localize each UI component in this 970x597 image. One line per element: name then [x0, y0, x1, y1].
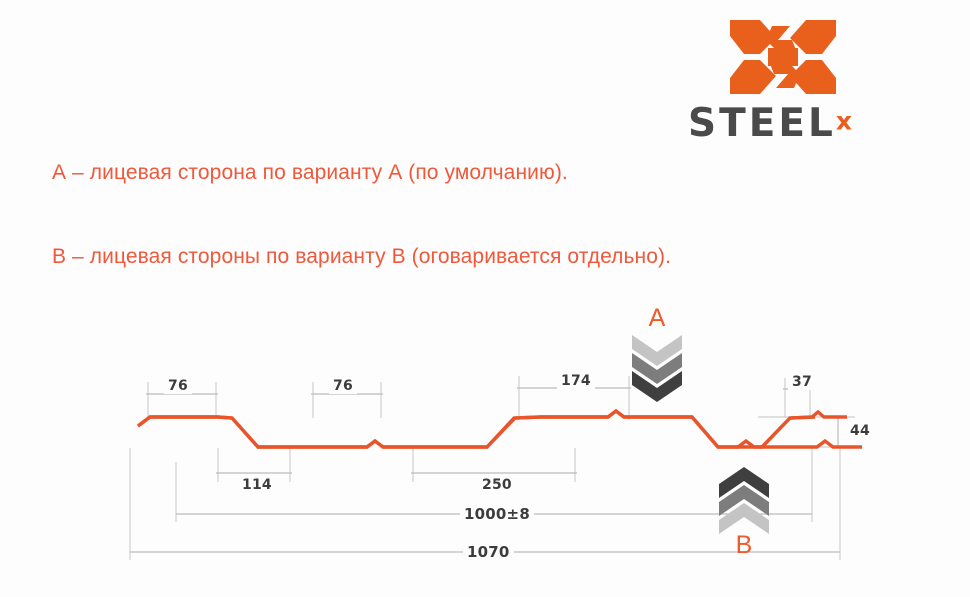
dimension-label-valley-width: 114	[238, 477, 276, 493]
chevron-up-stack-icon	[719, 466, 769, 539]
marker-b: В	[712, 466, 776, 558]
chevron-down-stack-icon	[632, 335, 682, 408]
dimension-label-edge-crest: 37	[788, 374, 816, 390]
marker-a-letter: А	[625, 305, 689, 331]
marker-b-letter: В	[712, 532, 776, 558]
dimension-label-total-width: 1070	[463, 543, 514, 561]
dimension-label-height: 44	[846, 423, 874, 439]
dimension-label-useful-width: 1000±8	[460, 505, 534, 523]
marker-a: А	[625, 305, 689, 403]
dimension-label-pitch: 250	[478, 477, 516, 493]
dimension-label-crest-width-2: 76	[329, 378, 357, 394]
dimension-label-rib-spacing: 174	[557, 373, 595, 389]
profile-main-path	[138, 411, 847, 447]
dimension-label-crest-width-1: 76	[164, 378, 192, 394]
